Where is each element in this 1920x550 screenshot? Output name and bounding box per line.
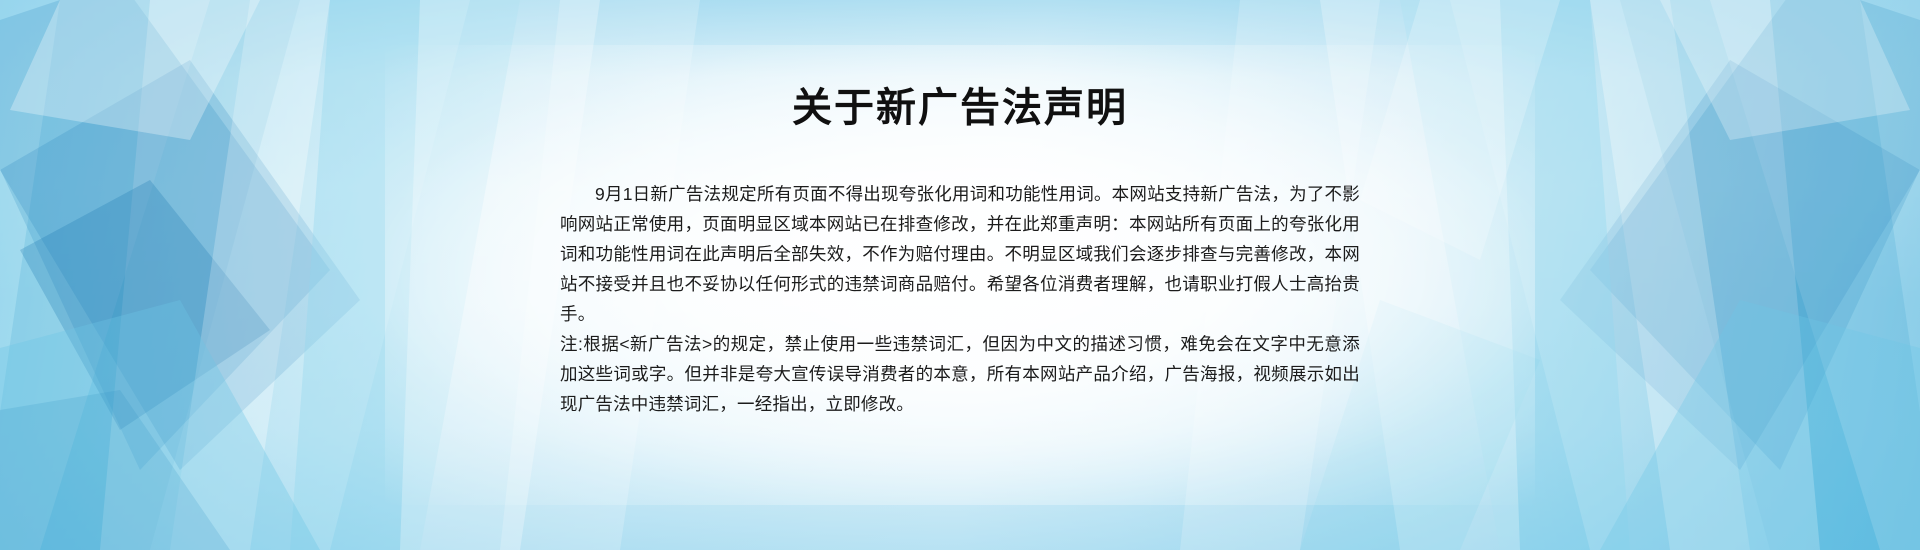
statement-paragraph-1: 9月1日新广告法规定所有页面不得出现夸张化用词和功能性用词。本网站支持新广告法，… [560, 179, 1360, 329]
page-title: 关于新广告法声明 [792, 84, 1128, 132]
statement-paragraph-2: 注:根据<新广告法>的规定，禁止使用一些违禁词汇，但因为中文的描述习惯，难免会在… [560, 329, 1360, 419]
banner-content: 关于新广告法声明 9月1日新广告法规定所有页面不得出现夸张化用词和功能性用词。本… [0, 0, 1920, 550]
statement-body: 9月1日新广告法规定所有页面不得出现夸张化用词和功能性用词。本网站支持新广告法，… [560, 179, 1360, 419]
ad-law-statement-banner: 关于新广告法声明 9月1日新广告法规定所有页面不得出现夸张化用词和功能性用词。本… [0, 0, 1920, 550]
